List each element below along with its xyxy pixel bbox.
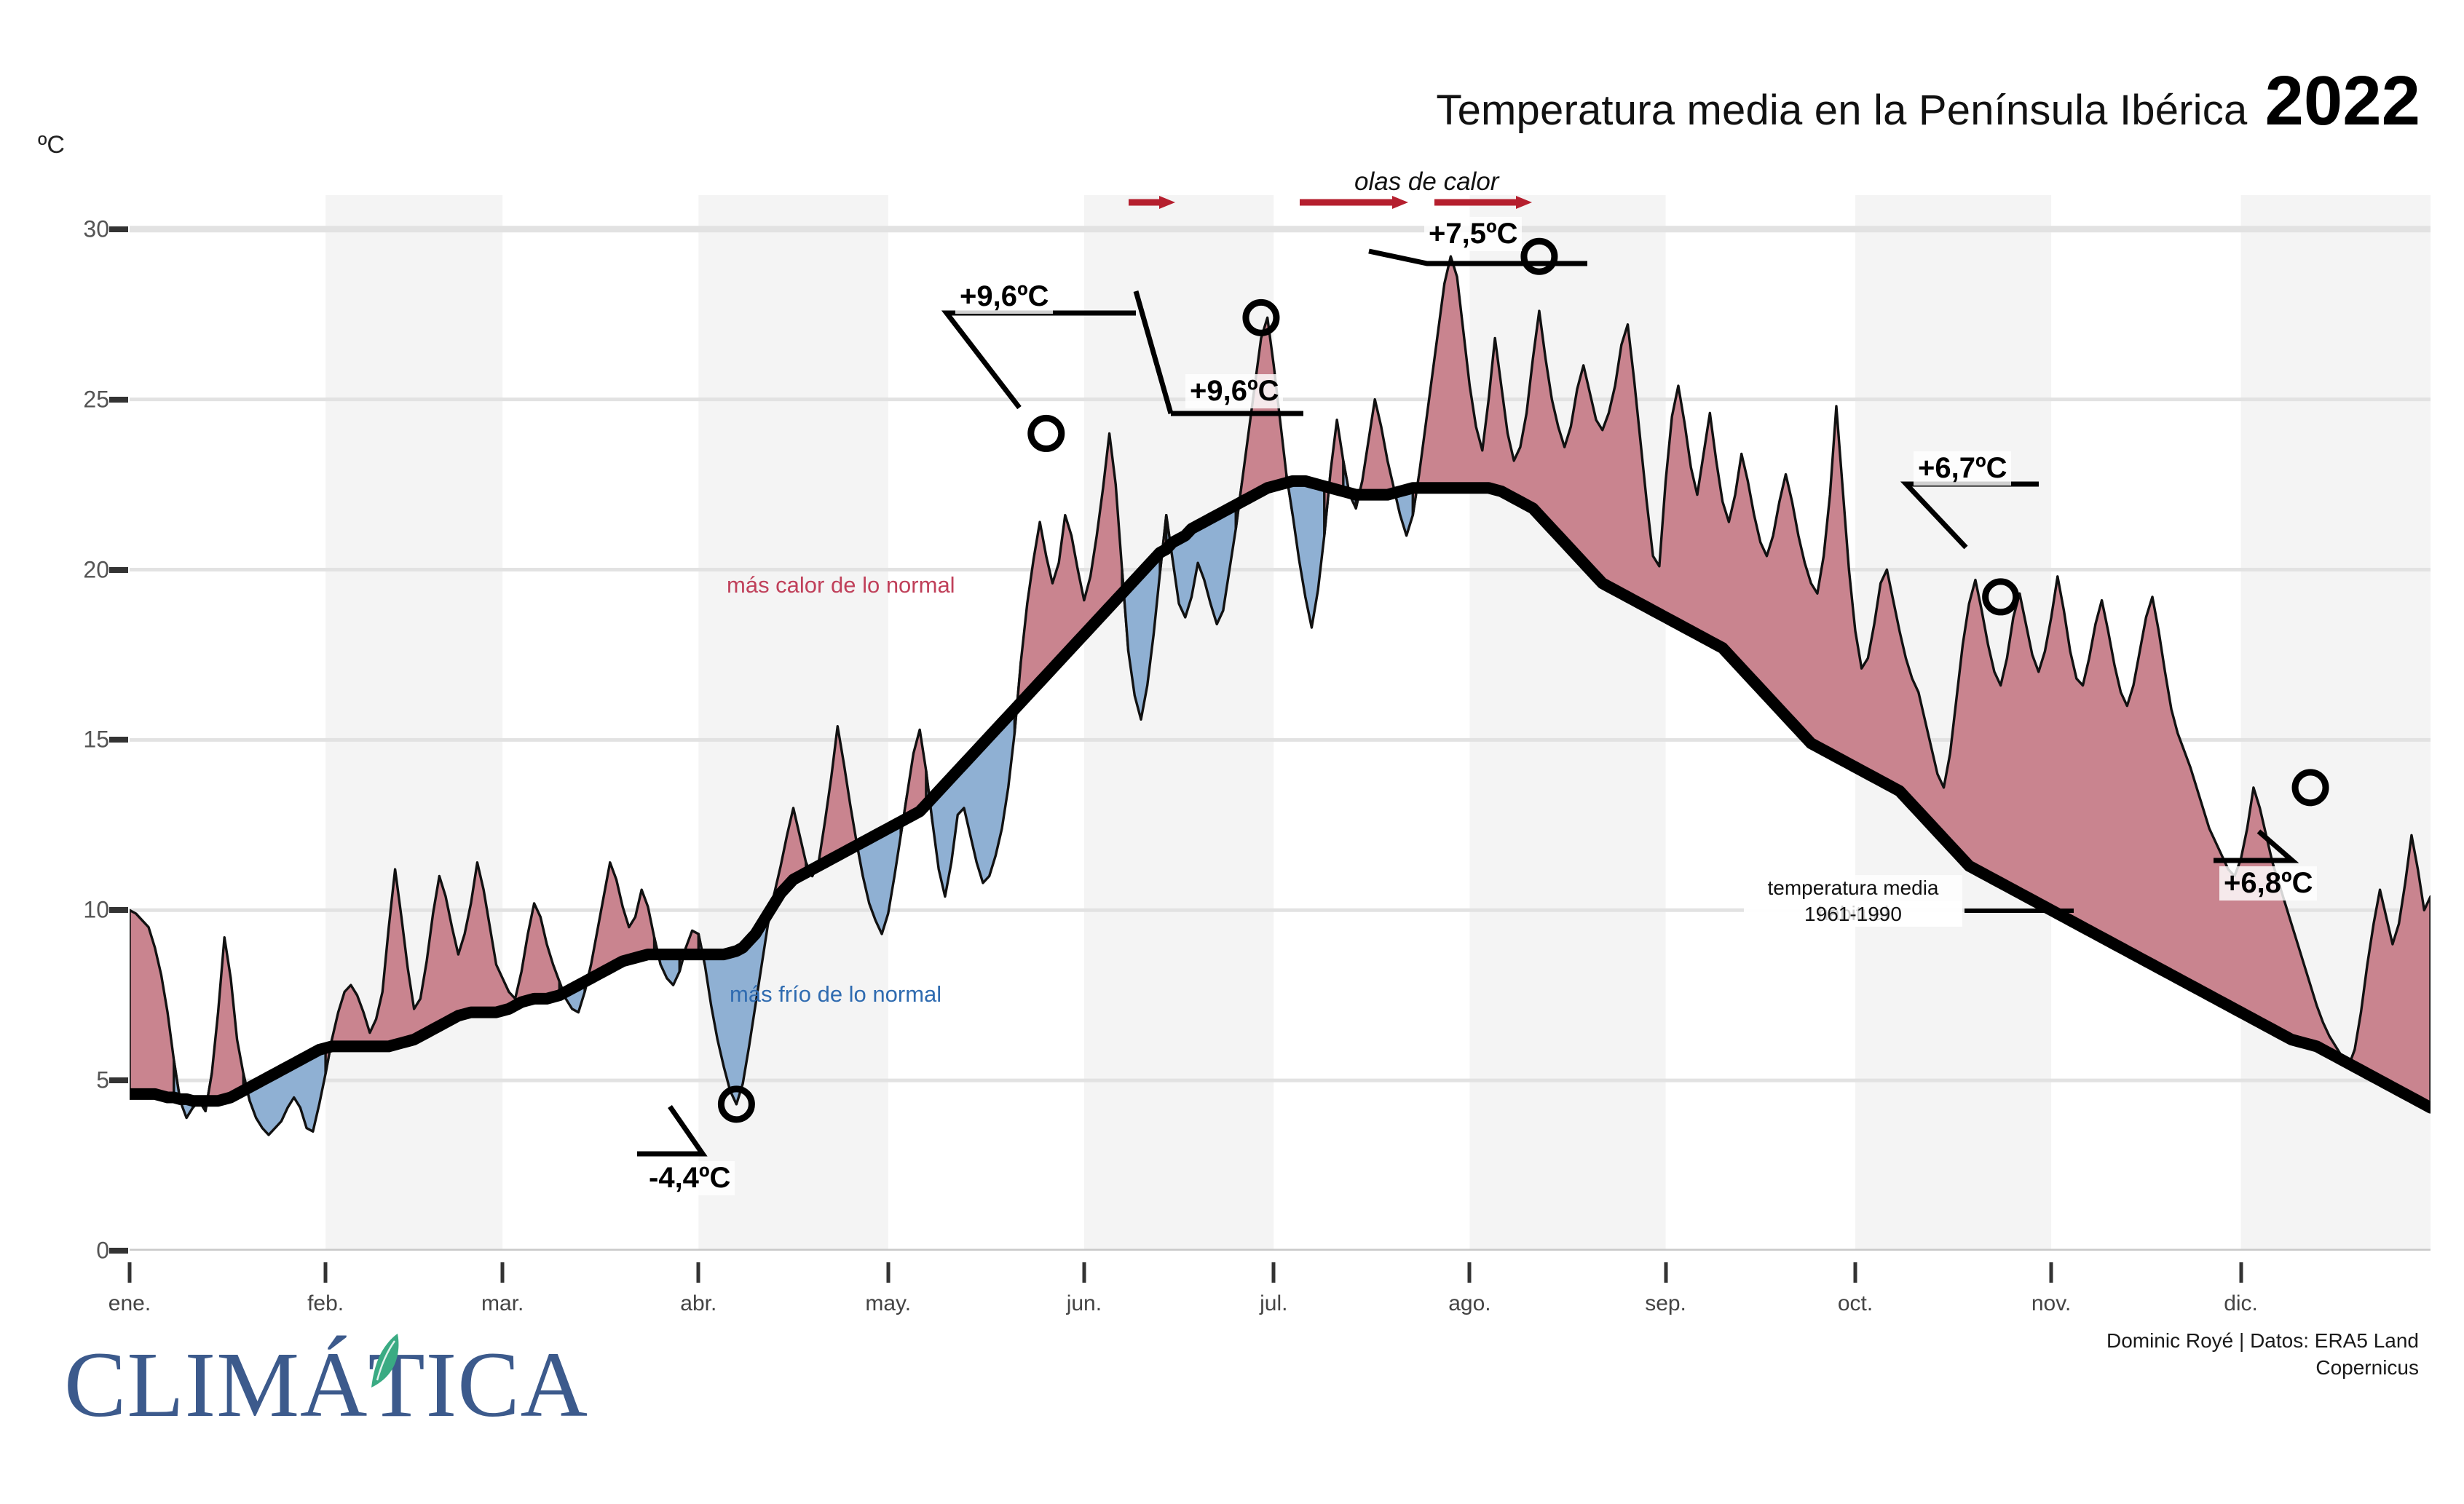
- anomaly-label-jun-96: +9,6ºC: [1185, 374, 1283, 408]
- logo-wordmark: CLIMÁTICA: [64, 1338, 588, 1431]
- logo-text-label: CLIMÁTICA: [64, 1333, 588, 1436]
- x-tick-label: ene.: [108, 1291, 151, 1316]
- y-tick-mark: [109, 567, 128, 573]
- heatwave-arrows: [1092, 191, 1602, 220]
- infographic-root: Temperatura media en la Península Ibéric…: [0, 0, 2464, 1504]
- x-tick-mark: [2050, 1262, 2053, 1283]
- y-tick-mark: [109, 907, 128, 913]
- month-band: [1469, 195, 1665, 1251]
- x-tick-mark: [1854, 1262, 1857, 1283]
- x-tick-mark: [128, 1262, 132, 1283]
- y-tick-label: 15: [29, 727, 109, 753]
- y-tick-mark: [109, 737, 128, 743]
- x-tick-mark: [886, 1262, 890, 1283]
- temperature-area-chart: [130, 195, 2431, 1251]
- month-band: [325, 195, 502, 1251]
- y-tick-label: 20: [29, 556, 109, 583]
- x-tick-label: sep.: [1645, 1291, 1686, 1316]
- y-axis-unit-label: ºC: [38, 131, 65, 159]
- anomaly-label-oct-67: +6,7ºC: [1914, 451, 2011, 486]
- cold-anomaly-band: [174, 1060, 200, 1118]
- header: Temperatura media en la Península Ibéric…: [1436, 70, 2420, 135]
- legend-warm-label: más calor de lo normal: [727, 572, 955, 598]
- year-label: 2022: [2264, 70, 2420, 132]
- cold-anomaly-band: [1343, 461, 1362, 508]
- climatica-logo: CLIMÁTICA: [64, 1338, 588, 1431]
- y-tick-label: 25: [29, 386, 109, 413]
- x-tick-label: abr.: [680, 1291, 716, 1316]
- x-tick-mark: [1664, 1262, 1667, 1283]
- cold-anomaly-band: [926, 662, 1021, 897]
- x-tick-mark: [1082, 1262, 1086, 1283]
- anomaly-label-dec-68: +6,8ºC: [2219, 866, 2317, 901]
- heatwave-arrow-head: [1392, 196, 1408, 209]
- month-band: [1084, 195, 1274, 1251]
- x-tick-mark: [2239, 1262, 2243, 1283]
- x-tick-mark: [324, 1262, 328, 1283]
- x-tick-mark: [1272, 1262, 1276, 1283]
- y-tick-mark: [109, 397, 128, 403]
- baseline-callout-leader: [1965, 909, 2074, 913]
- y-tick-label: 5: [29, 1067, 109, 1094]
- x-tick-label: oct.: [1838, 1291, 1873, 1316]
- heatwave-arrow-head: [1159, 196, 1175, 209]
- credits-line-1: Dominic Royé | Datos: ERA5 Land: [2106, 1328, 2419, 1355]
- x-tick-label: mar.: [481, 1291, 524, 1316]
- anomaly-label-may-96: +9,6ºC: [955, 280, 1053, 314]
- x-tick-label: dic.: [2224, 1291, 2258, 1316]
- credits: Dominic Royé | Datos: ERA5 Land Copernic…: [2106, 1328, 2419, 1382]
- x-tick-label: jun.: [1067, 1291, 1102, 1316]
- anomaly-label-jul-75: +7,5ºC: [1424, 217, 1522, 251]
- x-tick-mark: [697, 1262, 700, 1283]
- x-tick-label: nov.: [2031, 1291, 2071, 1316]
- leaf-icon: [366, 1332, 405, 1389]
- y-tick-label: 30: [29, 215, 109, 242]
- x-tick-mark: [501, 1262, 505, 1283]
- y-tick-label: 0: [29, 1238, 109, 1264]
- y-tick-mark: [109, 1077, 128, 1083]
- x-tick-label: ago.: [1448, 1291, 1490, 1316]
- anomaly-label-apr-44: -4,4ºC: [644, 1161, 735, 1195]
- x-tick-label: jul.: [1260, 1291, 1287, 1316]
- heatwave-arrow-head: [1516, 196, 1532, 209]
- x-tick-label: may.: [865, 1291, 911, 1316]
- extreme-marker: [1031, 418, 1062, 448]
- credits-line-2: Copernicus: [2106, 1355, 2419, 1382]
- x-tick-mark: [1468, 1262, 1472, 1283]
- legend-cold-label: más frío de lo normal: [730, 981, 941, 1008]
- chart-plot-area: [130, 195, 2431, 1251]
- y-tick-label: 10: [29, 897, 109, 924]
- baseline-callout-line-2: 1961-1990: [1744, 901, 1962, 927]
- y-tick-mark: [109, 1248, 128, 1254]
- x-tick-label: feb.: [307, 1291, 344, 1316]
- page-title: Temperatura media en la Península Ibéric…: [1436, 86, 2247, 135]
- warm-anomaly-band: [130, 910, 180, 1101]
- y-tick-mark: [109, 226, 128, 232]
